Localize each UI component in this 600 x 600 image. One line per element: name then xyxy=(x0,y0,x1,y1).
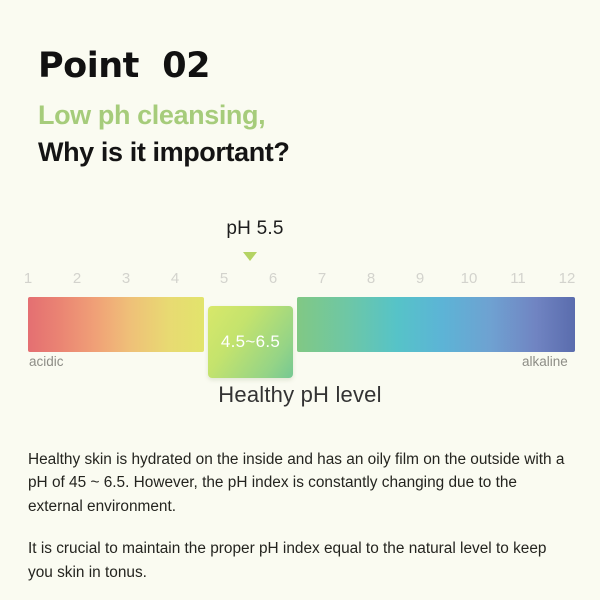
body-paragraph-2: It is crucial to maintain the proper pH … xyxy=(28,537,573,584)
body-paragraph-1: Healthy skin is hydrated on the inside a… xyxy=(28,448,573,518)
ph-scale-graphic: pH 5.5 1 2 3 4 5 6 7 8 9 10 11 12 4.5~6.… xyxy=(0,218,600,408)
ph-tick-8: 8 xyxy=(358,270,384,287)
ph-tick-3: 3 xyxy=(113,270,139,287)
acidic-end-label: acidic xyxy=(29,354,64,369)
healthy-ph-caption: Healthy pH level xyxy=(0,382,600,408)
triangle-down-icon xyxy=(243,252,257,261)
ph-tick-2: 2 xyxy=(64,270,90,287)
ph-tick-4: 4 xyxy=(162,270,188,287)
ph-tick-11: 11 xyxy=(505,270,531,287)
ph-tick-1: 1 xyxy=(15,270,41,287)
ph-number-axis: 1 2 3 4 5 6 7 8 9 10 11 12 xyxy=(28,270,575,292)
alkaline-gradient-bar xyxy=(297,297,575,352)
heading-block: Point 02 Low ph cleansing, Why is it imp… xyxy=(38,48,558,169)
ph-tick-7: 7 xyxy=(309,270,335,287)
ph-tick-12: 12 xyxy=(554,270,580,287)
ph-marker-label: pH 5.5 xyxy=(215,218,295,240)
page-title: Point 02 xyxy=(38,48,558,85)
ph-tick-10: 10 xyxy=(456,270,482,287)
healthy-range-box: 4.5~6.5 xyxy=(208,306,293,378)
acidic-gradient-bar xyxy=(28,297,204,352)
subtitle-line-1: Low ph cleansing, xyxy=(38,99,558,132)
ph-tick-9: 9 xyxy=(407,270,433,287)
subtitle-line-2: Why is it important? xyxy=(38,136,558,169)
ph-tick-5: 5 xyxy=(211,270,237,287)
healthy-range-label: 4.5~6.5 xyxy=(221,332,280,352)
ph-tick-6: 6 xyxy=(260,270,286,287)
body-copy: Healthy skin is hydrated on the inside a… xyxy=(28,448,573,584)
page-root: Point 02 Low ph cleansing, Why is it imp… xyxy=(0,0,600,600)
alkaline-end-label: alkaline xyxy=(522,354,568,369)
